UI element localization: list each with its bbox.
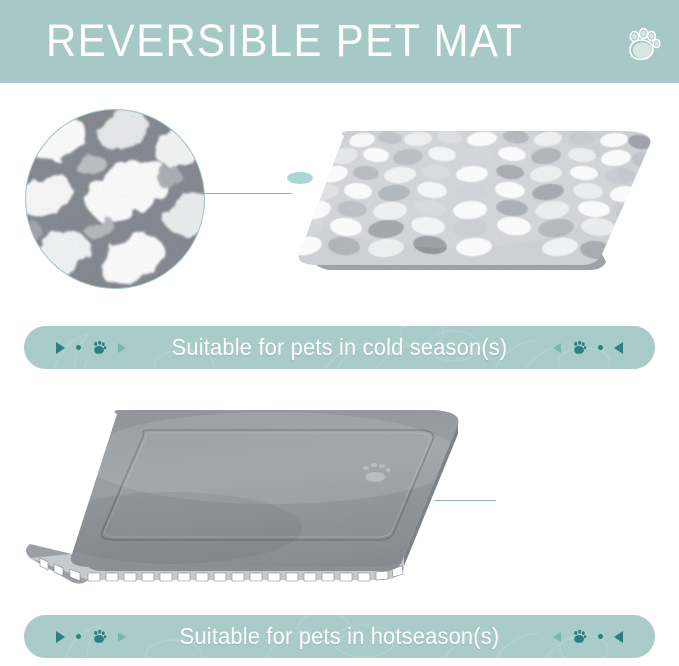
pet-mat-cobblestone-side (272, 128, 658, 273)
page-title: REVERSIBLE PET MAT (46, 12, 523, 70)
banner-label: Suitable for pets in cold season(s) (40, 326, 639, 369)
banner-decor-right (553, 326, 623, 369)
dot-icon (598, 634, 603, 639)
paw-filled-icon (572, 340, 587, 355)
paw-print-icon (621, 22, 665, 66)
banner-label: Suitable for pets in hotseason(s) (40, 615, 639, 658)
bottom-product-section (0, 390, 679, 605)
arrow-left-filled-icon (614, 631, 623, 643)
arrow-left-outline-icon (553, 632, 561, 642)
banner-decor-right (553, 615, 623, 658)
fleece-closeup-circle (25, 109, 205, 289)
pet-mat-grey-side (22, 408, 472, 593)
paw-filled-icon (572, 629, 587, 644)
callout-line-bottom (434, 500, 496, 501)
arrow-left-filled-icon (614, 342, 623, 354)
header-banner: REVERSIBLE PET MAT (0, 0, 679, 83)
fleece-texture (25, 109, 205, 289)
top-product-section (0, 83, 679, 316)
banner-cold-season: Suitable for pets in cold season(s) (24, 326, 655, 369)
banner-hot-season: Suitable for pets in hotseason(s) (24, 615, 655, 658)
arrow-left-outline-icon (553, 343, 561, 353)
dot-icon (598, 345, 603, 350)
product-infographic: REVERSIBLE PET MAT (0, 0, 679, 666)
